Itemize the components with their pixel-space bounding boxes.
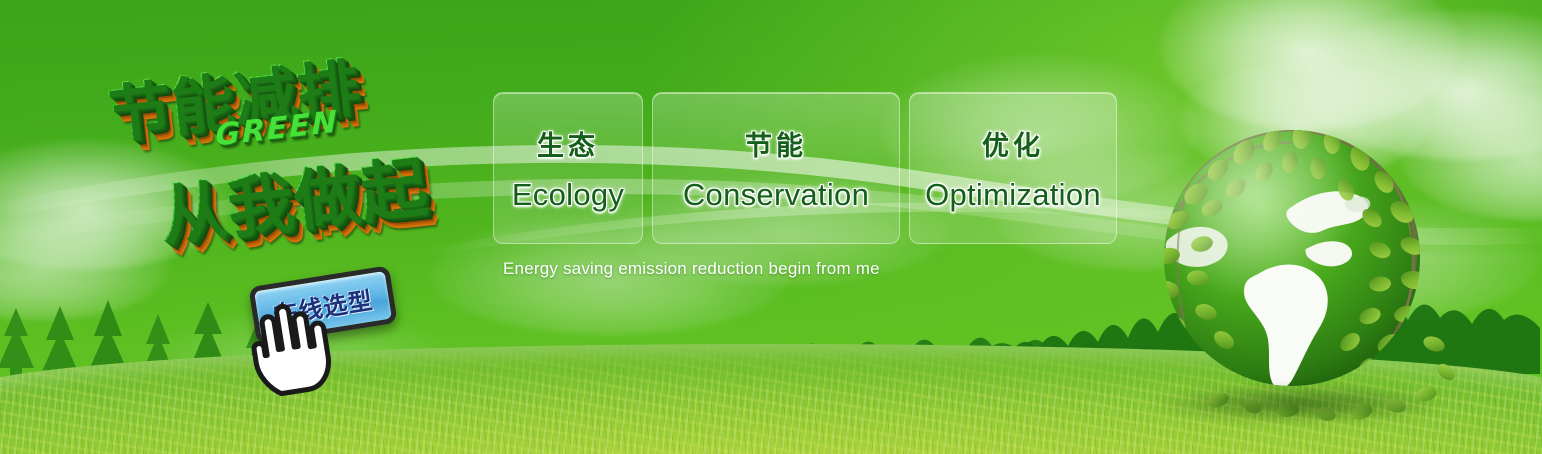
banner-tagline: Energy saving emission reduction begin f… — [503, 259, 880, 279]
eco-globe-icon — [1140, 108, 1460, 428]
headline-line-2: 从我做起 — [154, 133, 431, 259]
feature-card-ecology-cn: 生态 — [537, 124, 599, 163]
feature-card-ecology[interactable]: 生态 Ecology — [493, 92, 643, 244]
eco-banner: 节能减排 GREEN 从我做起 在线选型 生态 Ecology 节能 Conse… — [0, 0, 1542, 454]
feature-card-ecology-en: Ecology — [512, 177, 624, 213]
online-selection-cta-wrapper[interactable]: 在线选型 — [248, 265, 397, 344]
feature-card-conservation-en: Conservation — [683, 177, 869, 213]
hand-pointer-cursor-icon — [237, 294, 337, 402]
feature-card-optimization-en: Optimization — [925, 177, 1101, 213]
eco-globe-stage — [1140, 108, 1460, 428]
feature-card-optimization-cn: 优化 — [982, 124, 1044, 163]
headline-artwork: 节能减排 GREEN 从我做起 — [84, 17, 498, 290]
feature-card-optimization[interactable]: 优化 Optimization — [909, 92, 1117, 244]
globe-ground-shadow — [1154, 384, 1444, 424]
feature-card-conservation-cn: 节能 — [745, 124, 807, 163]
feature-card-conservation[interactable]: 节能 Conservation — [652, 92, 900, 244]
feature-card-row: 生态 Ecology 节能 Conservation 优化 Optimizati… — [493, 92, 1117, 244]
headline-line-2-text: 从我做起 — [154, 133, 431, 259]
